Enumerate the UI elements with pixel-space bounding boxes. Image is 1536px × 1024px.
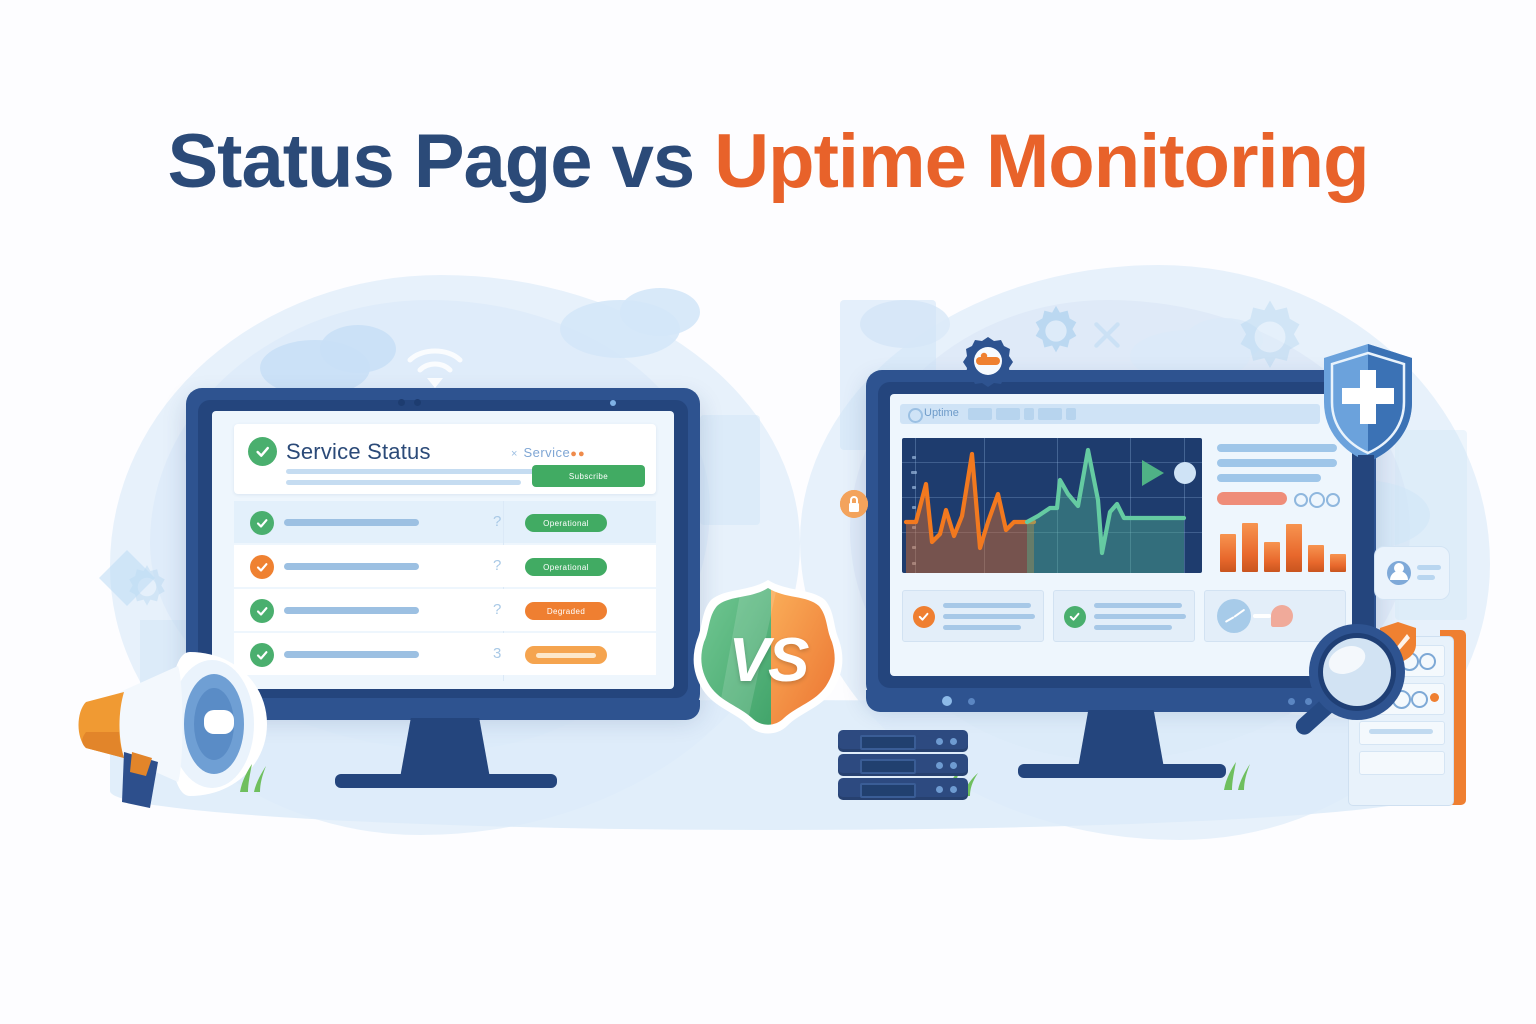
chart-series-plot (902, 438, 1202, 573)
gear-badge-icon (962, 335, 1014, 392)
cloud-decoration (320, 325, 396, 373)
toolbar-block[interactable] (1066, 408, 1076, 420)
card-line (943, 603, 1031, 608)
toolbar-label: Uptime (924, 407, 959, 419)
cloud-decoration (620, 288, 700, 336)
grass-decoration (1220, 760, 1266, 790)
header-skeleton-line (286, 469, 540, 474)
row-value: ? (493, 601, 501, 618)
progress-bar (1217, 492, 1287, 505)
monitor-neck-right (1078, 710, 1164, 768)
location-pin-decoration-icon (96, 548, 158, 618)
status-badge: Operational (525, 514, 607, 532)
gauge-needle (1225, 616, 1235, 623)
title-left-part: Status Page vs (167, 119, 714, 204)
check-circle-orange-icon (250, 555, 274, 579)
dashboard-card[interactable] (1053, 590, 1195, 642)
pager-dot-icon[interactable] (1294, 493, 1308, 507)
rack-led (936, 738, 943, 745)
rack-led (936, 762, 943, 769)
gear-decoration-icon (1025, 300, 1087, 362)
illustration-canvas: Status Page vs Uptime Monitoring Service… (0, 0, 1536, 1024)
bar-chart-bar (1242, 523, 1258, 572)
card-line (943, 614, 1035, 619)
status-led (610, 400, 616, 406)
server-rack-icon (838, 730, 968, 752)
tower-status-dot (1430, 693, 1439, 702)
service-status-header-card: Service Status ×Service●● Subscribe (234, 424, 656, 494)
grass-decoration (236, 762, 282, 792)
title-right-part: Uptime Monitoring (714, 119, 1368, 204)
page-title: Status Page vs Uptime Monitoring (0, 118, 1536, 205)
user-bubble-icon (1374, 546, 1450, 600)
row-value: ? (493, 557, 501, 574)
megaphone-icon (62, 640, 322, 815)
megaphone-driver (204, 710, 234, 734)
rack-led (936, 786, 943, 793)
webcam-dot (414, 399, 421, 406)
monitor-neck-left (400, 718, 490, 778)
cross-decoration-icon (1090, 318, 1124, 352)
card-line (1094, 603, 1182, 608)
card-line (1094, 614, 1186, 619)
card-line (943, 625, 1021, 630)
magnifier-icon (1285, 618, 1410, 753)
gear-decoration-icon (1225, 292, 1315, 382)
lock-badge-icon (840, 490, 868, 518)
row-value: 3 (493, 645, 501, 662)
tower-bay (1359, 751, 1445, 775)
subscribe-badge[interactable]: Subscribe (532, 465, 645, 487)
rack-slot (860, 735, 916, 750)
pager-dot-icon[interactable] (1309, 492, 1325, 508)
uptime-line-chart (902, 438, 1202, 573)
toolbar-block[interactable] (1024, 408, 1034, 420)
check-circle-green-icon (250, 511, 274, 535)
webcam-dot (398, 399, 405, 406)
status-badge: Degraded (525, 602, 607, 620)
status-badge (525, 646, 607, 664)
monitor-base-right (1018, 764, 1226, 778)
card-line (1094, 625, 1172, 630)
close-icon[interactable]: × (511, 448, 518, 460)
monitor-base-left (335, 774, 557, 788)
bar-chart-bar (1264, 542, 1280, 572)
rack-led (950, 786, 957, 793)
dashboard-card[interactable] (902, 590, 1044, 642)
power-led (942, 696, 952, 706)
toolbar-block[interactable] (968, 408, 992, 420)
status-circle-icon (908, 408, 923, 423)
row-skeleton-line (284, 563, 419, 570)
brand-tail: ●● (570, 448, 585, 460)
bar-chart-bar (1308, 545, 1324, 572)
service-brand-label: ×Service●● (511, 445, 586, 460)
rack-led (950, 762, 957, 769)
check-circle-orange-icon (913, 606, 935, 628)
status-badge: Operational (525, 558, 607, 576)
decoration-square (700, 415, 760, 525)
vs-badge: VS (683, 578, 853, 743)
toolbar-block[interactable] (1038, 408, 1062, 420)
pager-dot-icon[interactable] (1326, 493, 1340, 507)
brand-text: Service (523, 445, 570, 460)
megaphone-body-shade (82, 732, 124, 758)
service-status-title: Service Status (286, 439, 431, 465)
uptime-dashboard-screen: Uptime (890, 394, 1352, 676)
toolbar-block[interactable] (996, 408, 1020, 420)
check-circle-green-icon (248, 437, 277, 466)
rack-led (950, 738, 957, 745)
server-rack-icon (838, 754, 968, 776)
play-triangle-icon[interactable] (1142, 460, 1164, 486)
tower-indicator-icon (1411, 691, 1428, 708)
indicator-dot (968, 698, 975, 705)
check-circle-green-icon (1064, 606, 1086, 628)
gear-badge-glyph (976, 357, 1000, 365)
tower-indicator-icon (1419, 653, 1436, 670)
dashboard-toolbar (900, 404, 1320, 424)
check-circle-green-icon (250, 599, 274, 623)
side-list-line (1217, 474, 1321, 482)
bar-chart-bar (1286, 524, 1302, 572)
server-rack-icon (838, 778, 968, 800)
row-skeleton-line (284, 519, 419, 526)
row-value: ? (493, 513, 501, 530)
card-line (1253, 614, 1271, 618)
vs-badge-label: VS (683, 578, 853, 743)
gear-badge-dot (981, 353, 987, 359)
rack-slot (860, 759, 916, 774)
header-skeleton-line (286, 480, 521, 485)
gauge-icon (1217, 599, 1251, 633)
wifi-signal-icon (400, 340, 470, 394)
bar-chart-bar (1330, 554, 1346, 572)
row-skeleton-line (284, 607, 419, 614)
gauge-needle (1233, 609, 1245, 618)
bar-chart-bar (1220, 534, 1236, 572)
chart-marker-dot (1174, 462, 1196, 484)
rack-slot (860, 783, 916, 798)
badge-inner-bar (536, 653, 595, 658)
